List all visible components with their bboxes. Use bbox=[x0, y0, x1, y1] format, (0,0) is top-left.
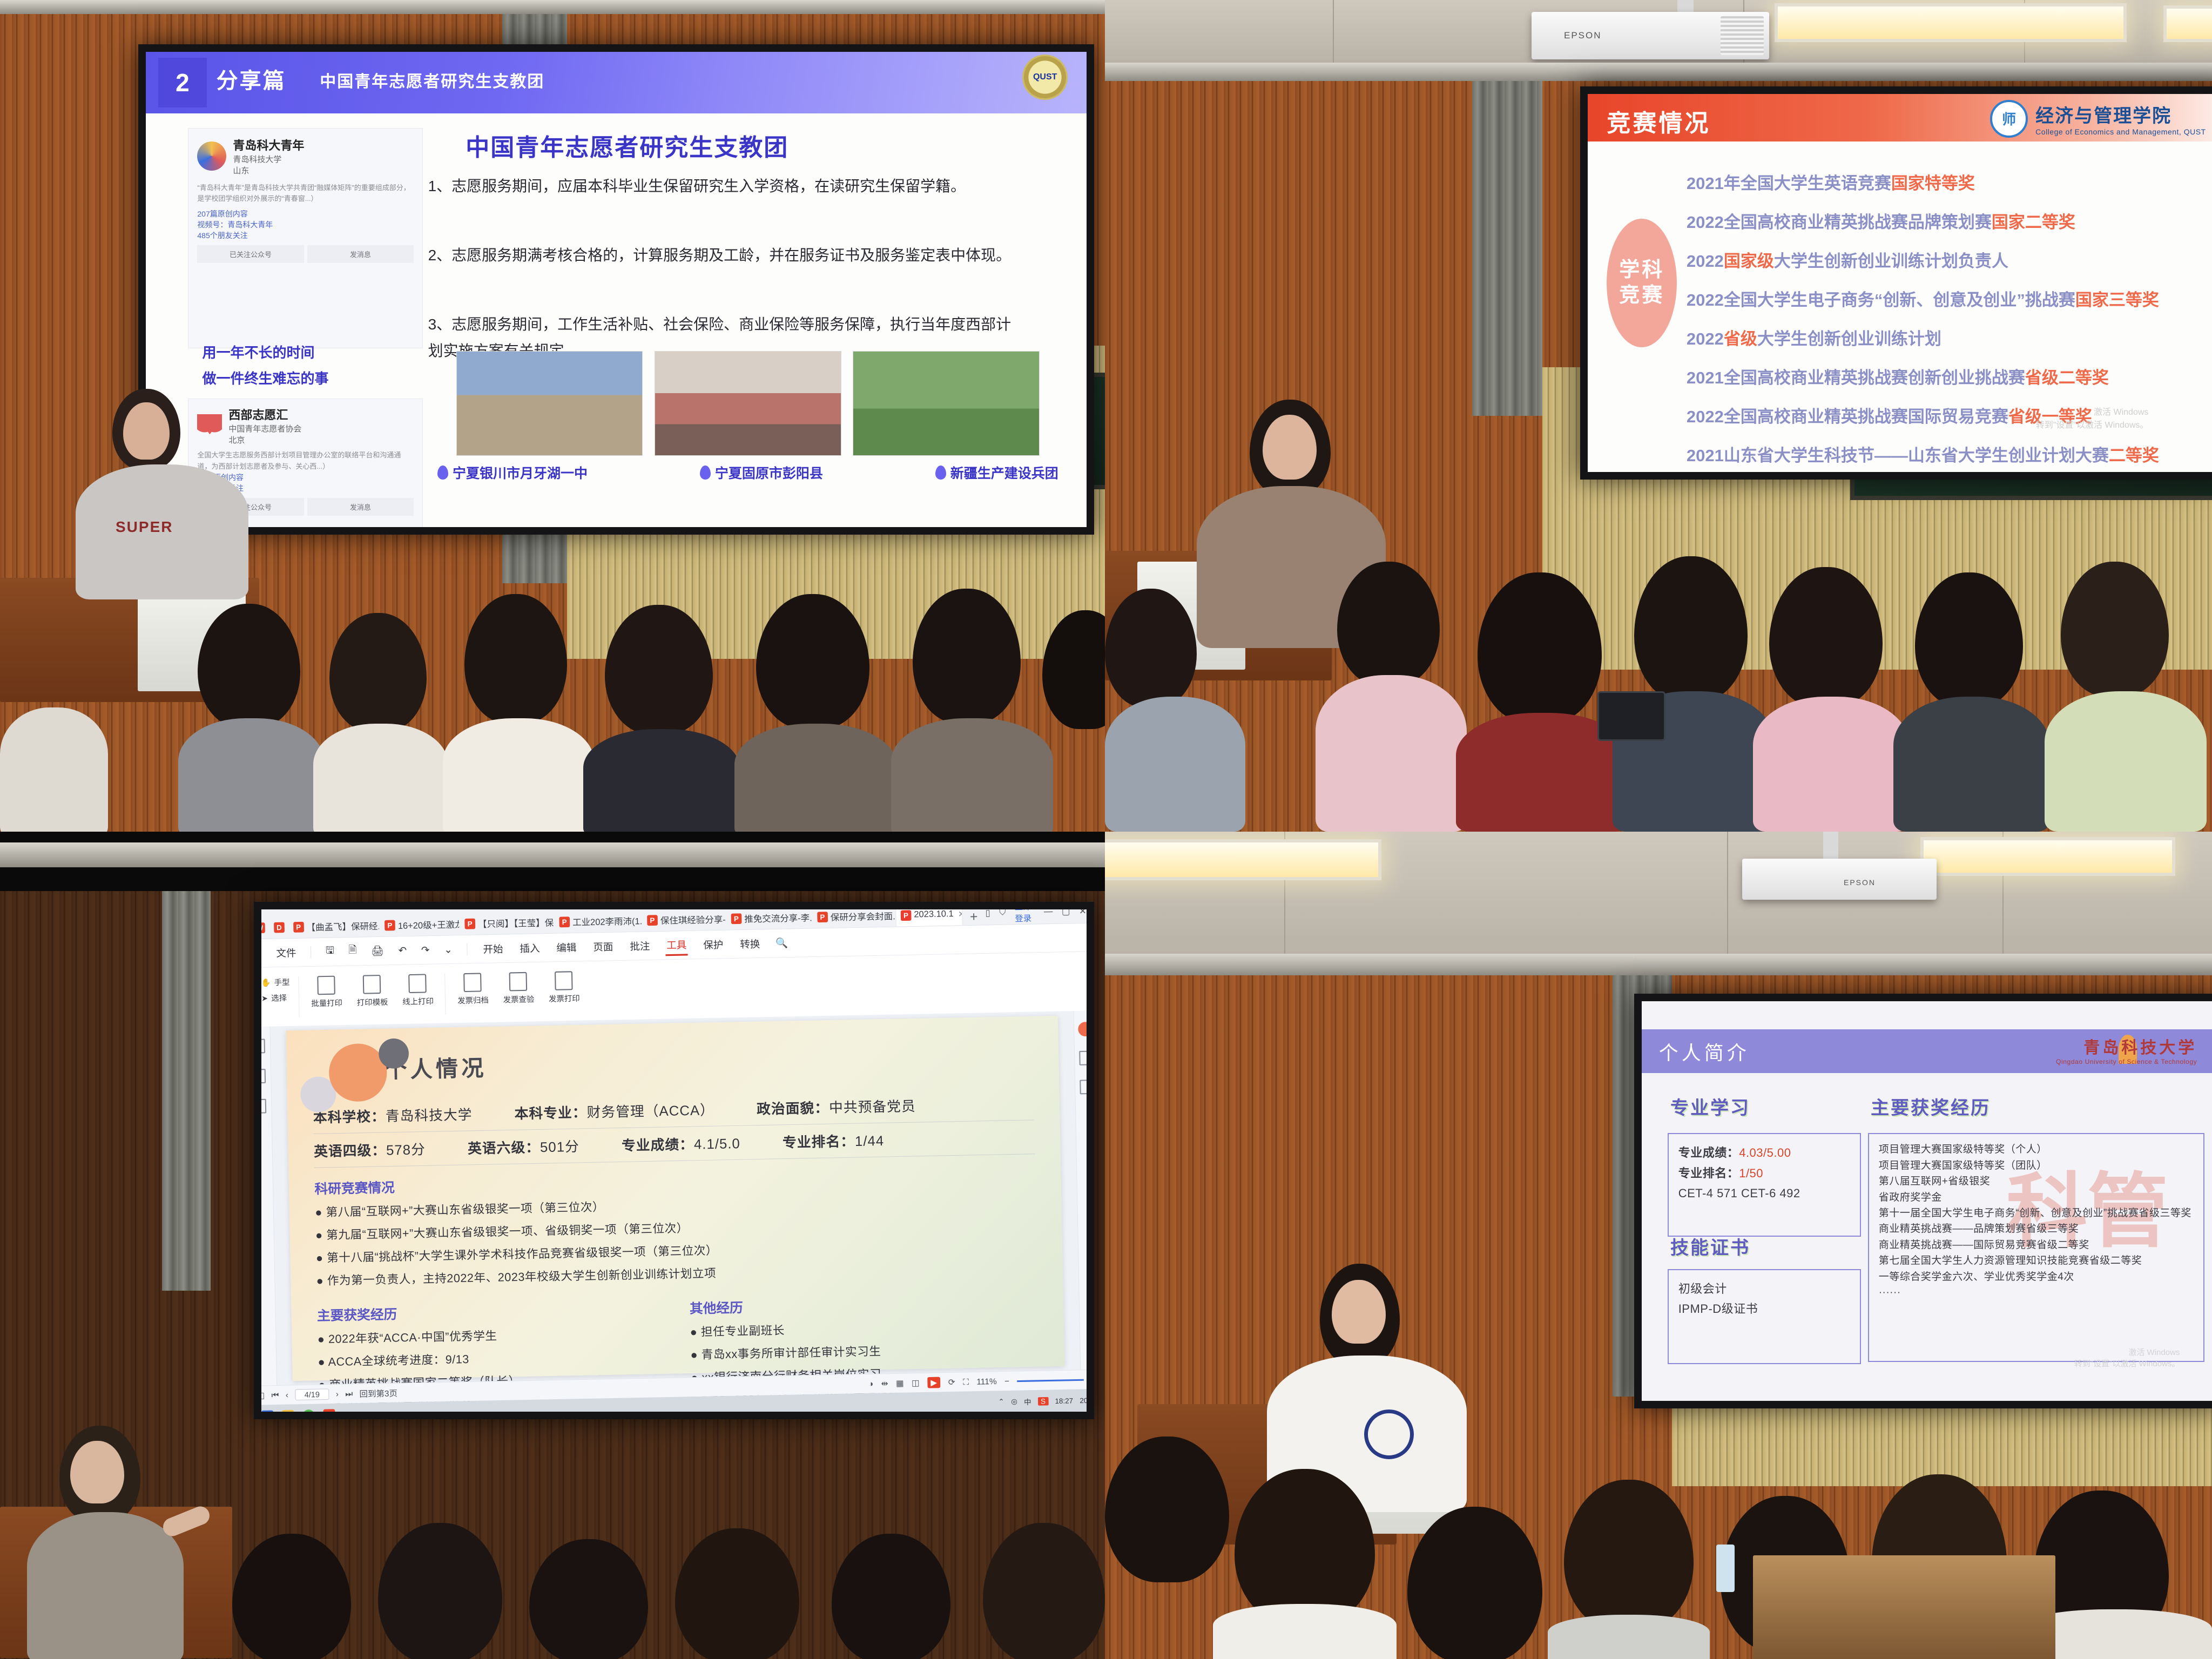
audience-head bbox=[605, 605, 713, 734]
presenter-1-shirt-text: SUPER bbox=[116, 518, 173, 536]
slide1-main-title: 中国青年志愿者研究生支教团 bbox=[466, 128, 788, 163]
presenter-4-face bbox=[1332, 1280, 1386, 1344]
tab-label: 推免交流分享-李... bbox=[744, 910, 812, 925]
audience-body bbox=[178, 718, 324, 832]
wechat-card-1: 青岛科大青年 青岛科技大学 山东 “青岛科大青年”是青岛科技大学共青团“融媒体矩… bbox=[188, 128, 423, 348]
wechat-card-1-message-button[interactable]: 发消息 bbox=[307, 245, 414, 263]
new-tab-button[interactable]: + bbox=[963, 909, 984, 925]
heart-hand-icon bbox=[197, 414, 222, 437]
award-line: 商业精英挑战赛——国际贸易竞赛省级二等奖 bbox=[1879, 1237, 2194, 1253]
university-name-en: Qingdao University of Science & Technolo… bbox=[2056, 1058, 2197, 1065]
view-mode-icon[interactable]: ◑ bbox=[868, 1379, 874, 1388]
wps-document-area: 个人情况 本科学校：青岛科技大学 本科专业：财务管理（ACCA） 政治面貌：中共… bbox=[261, 1010, 1087, 1386]
slide1-caption-1: 宁夏银川市月牙湖一中 bbox=[453, 463, 588, 482]
audience-head bbox=[1337, 562, 1440, 686]
ceiling-rail bbox=[0, 0, 1105, 14]
menu-protect[interactable]: 保护 bbox=[702, 935, 725, 954]
clock-time[interactable]: 18:27 bbox=[1055, 1397, 1073, 1405]
invoice-print-button[interactable]: 发票打印 bbox=[545, 971, 583, 1004]
doc-section-awards: 主要获奖经历 bbox=[317, 1298, 665, 1324]
search-icon[interactable]: 🔍 bbox=[775, 937, 788, 949]
projector-brand-label: EPSON bbox=[1564, 30, 1602, 41]
slide1-section-title: 分享篇 bbox=[217, 63, 286, 95]
audience-head bbox=[756, 594, 869, 729]
location-pin-icon bbox=[437, 466, 448, 480]
projector-vent bbox=[1721, 16, 1764, 55]
ceiling-rail bbox=[0, 842, 1105, 867]
minimize-icon[interactable]: — bbox=[1044, 909, 1053, 917]
award-item: 2021山东省大学生科技节——山东省大学生创业计划大赛二等奖 bbox=[1687, 442, 2212, 466]
university-name: 青岛科技大学 bbox=[2056, 1034, 2197, 1058]
hamburger-icon[interactable]: ☰ bbox=[261, 947, 262, 959]
wechat-card-2-message-button[interactable]: 发消息 bbox=[307, 498, 414, 516]
tab-label: 2023.10.1 bbox=[914, 909, 954, 920]
invoice-print-icon bbox=[555, 971, 573, 990]
phone-screen bbox=[1597, 691, 1665, 741]
audience-head bbox=[1634, 556, 1748, 702]
back-to-page-link[interactable]: 回到第3页 bbox=[359, 1387, 397, 1399]
first-page-button[interactable]: ⏮ bbox=[271, 1391, 279, 1400]
projector-brand-label: EPSON bbox=[1844, 878, 1876, 887]
zoom-slider[interactable] bbox=[1017, 1379, 1084, 1381]
doc-award-item: ● ACCA全球统考进度：9/13 bbox=[318, 1346, 666, 1370]
invoice-archive-icon bbox=[464, 973, 482, 992]
wechat-card-2-desc: 全国大学生志愿服务西部计划项目管理办公室的联络平台和沟通通道，为西部计划志愿者及… bbox=[197, 450, 414, 471]
wechat-card-2-count: 42篇原创内容 bbox=[197, 472, 414, 483]
zoom-icon[interactable] bbox=[1079, 1051, 1087, 1065]
tab-label: 保住琪经验分享-p bbox=[660, 912, 726, 927]
ceiling-light bbox=[1105, 839, 1381, 880]
network-icon[interactable]: ◎ bbox=[1011, 1397, 1017, 1406]
desk-row bbox=[1753, 1555, 2055, 1659]
award-item: 2022国家级大学生创新创业训练计划负责人 bbox=[1687, 247, 2212, 272]
slide1-caption-row: 宁夏银川市月牙湖一中 宁夏固原市彭阳县 新疆生产建设兵团 bbox=[437, 463, 1058, 482]
online-print-button[interactable]: 线上打印 bbox=[399, 974, 436, 1007]
wechat-card-1-count: 207篇原创内容 bbox=[197, 208, 414, 219]
close-icon[interactable]: ✕ bbox=[958, 909, 962, 919]
audience-head bbox=[1769, 567, 1883, 707]
word-icon: W bbox=[261, 922, 265, 933]
audience-body bbox=[1893, 697, 2050, 832]
slide1-title-band bbox=[146, 52, 1087, 113]
doc-title: 个人情况 bbox=[385, 1040, 1034, 1084]
redo-icon[interactable]: ↷ bbox=[421, 944, 430, 956]
ceiling-rail bbox=[1105, 63, 2212, 81]
college-name: 经济与管理学院 bbox=[2035, 101, 2206, 127]
badge-line-1: 学科 bbox=[1619, 258, 1664, 284]
login-button[interactable]: 立即登录 bbox=[1015, 909, 1035, 924]
windows-activation-watermark: 激活 Windows转到"设置"以激活 Windows。 bbox=[2036, 404, 2149, 430]
pdf-icon: P bbox=[900, 910, 911, 921]
tab-ppt-4[interactable]: P工业202李雨沛(1... bbox=[555, 909, 642, 933]
wechat-card-1-video: 视频号：青岛科大青年 bbox=[197, 219, 414, 230]
projector bbox=[1742, 859, 1937, 900]
award-item: 2021年全国大学生英语竞赛国家特等奖 bbox=[1687, 170, 2212, 194]
curtain bbox=[1472, 81, 1542, 416]
audience-head bbox=[2061, 562, 2169, 697]
wechat-card-1-friends: 485个朋友关注 bbox=[197, 230, 414, 241]
doc-award-item: ● 2022年获“ACCA·中国”优秀学生 bbox=[318, 1324, 666, 1347]
audience-head bbox=[1478, 572, 1602, 724]
college-name-en: College of Economics and Management, QUS… bbox=[2035, 127, 2206, 136]
ai-assistant-icon[interactable] bbox=[1078, 1022, 1087, 1036]
tab-label: 保研分享会封面.p bbox=[831, 909, 895, 923]
cert-box: 初级会计 IPMP-D级证书 bbox=[1668, 1269, 1861, 1365]
slide1-section-subtitle: 中国青年志愿者研究生支教团 bbox=[320, 68, 544, 92]
chevron-down-icon[interactable]: ⌄ bbox=[444, 943, 453, 955]
close-window-icon[interactable]: ✕ bbox=[1079, 909, 1087, 917]
slide1-section-number: 2 bbox=[158, 58, 207, 107]
doc-icon: D bbox=[274, 922, 285, 933]
university-crest-icon: QUST bbox=[1022, 55, 1068, 100]
save-icon[interactable]: 🖫 bbox=[326, 943, 334, 960]
dual-page-icon[interactable]: ◫ bbox=[912, 1378, 920, 1388]
save-as-icon[interactable]: 🗎 bbox=[348, 943, 357, 960]
award-line: 一等综合奖学金六次、学业优秀奖学金4次 bbox=[1879, 1269, 2194, 1285]
projection-screen-3: W D P【曲孟飞】保研经... P16+20级+王激龙 P【只阅】【王莹】保.… bbox=[254, 902, 1094, 1419]
audience-head bbox=[913, 589, 1021, 724]
batch-print-icon bbox=[318, 976, 336, 995]
slide2-category-badge: 学科 竞赛 bbox=[1607, 219, 1677, 347]
menu-page[interactable]: 页面 bbox=[592, 937, 615, 956]
badge-line-2: 竞赛 bbox=[1619, 283, 1664, 309]
projection-screen-2: 竞赛情况 师 经济与管理学院 College of Economics and … bbox=[1580, 86, 2212, 480]
college-emblem-icon: 师 bbox=[1990, 100, 2028, 138]
panel-bottom-left: W D P【曲孟飞】保研经... P16+20级+王激龙 P【只阅】【王莹】保.… bbox=[0, 832, 1105, 1659]
wechat-card-1-region: 山东 bbox=[233, 165, 304, 176]
award-line: 第七届全国大学生人力资源管理知识技能竞赛省级二等奖 bbox=[1879, 1253, 2194, 1269]
wechat-card-1-follow-button[interactable]: 已关注公众号 bbox=[197, 245, 304, 263]
tab-doc[interactable]: D bbox=[269, 916, 288, 939]
tab-label: 16+20级+王激龙 bbox=[398, 917, 460, 932]
zoom-level[interactable]: 111% bbox=[976, 1377, 997, 1386]
audience-head bbox=[329, 613, 427, 732]
slide2-title: 竞赛情况 bbox=[1607, 104, 1710, 138]
fullscreen-icon[interactable]: ⛶ bbox=[963, 1377, 969, 1387]
doc-other-item: ● 担任专业副班长 bbox=[690, 1317, 1038, 1340]
slide1-paragraph-2: 2、志愿服务期满考核合格的，计算服务期及工龄，并在服务证书及服务鉴定表中体现。 bbox=[428, 242, 1011, 268]
tab-ppt-5[interactable]: P保住琪经验分享-p bbox=[642, 909, 725, 932]
audience-head bbox=[464, 594, 567, 724]
audience-body bbox=[1548, 1615, 1710, 1659]
audience-body bbox=[313, 724, 448, 832]
clock-date[interactable]: 2023 bbox=[1080, 1396, 1087, 1405]
invoice-archive-button[interactable]: 发票归档 bbox=[454, 973, 491, 1006]
single-page-icon[interactable]: ▯ bbox=[261, 1391, 265, 1401]
tab-label: 工业202李雨沛(1... bbox=[572, 914, 642, 928]
audience-body bbox=[734, 724, 896, 832]
next-page-button[interactable]: › bbox=[336, 1389, 339, 1399]
panel-bottom-right: EPSON 个人简介 青岛科技大学 Qingdao University of … bbox=[1105, 832, 2212, 1659]
right-sidebar bbox=[1074, 1010, 1087, 1370]
tray-up-icon[interactable]: ⌃ bbox=[998, 1397, 1004, 1406]
invoice-verify-icon bbox=[509, 972, 528, 992]
curtain bbox=[162, 891, 211, 1291]
print-template-icon bbox=[363, 975, 381, 994]
projection-screen-4: 个人简介 青岛科技大学 Qingdao University of Scienc… bbox=[1634, 994, 2212, 1408]
browser-icon[interactable] bbox=[302, 1409, 314, 1412]
tab-ppt-1[interactable]: P【曲孟飞】保研经... bbox=[288, 914, 379, 938]
windows-activation-watermark: 激活 Windows转到"设置"以激活 Windows。 bbox=[2074, 1346, 2180, 1369]
grid-view-icon[interactable]: ▦ bbox=[896, 1378, 904, 1388]
ppt-icon: P bbox=[731, 913, 741, 924]
panel-top-left: 2 分享篇 中国青年志愿者研究生支教团 QUST 中国青年志愿者研究生支教团 1… bbox=[0, 0, 1105, 832]
fit-width-icon[interactable]: ⇹ bbox=[881, 1378, 888, 1388]
ppt-icon: P bbox=[817, 912, 828, 922]
award-item: 2022省级大学生创新创业训练计划 bbox=[1687, 325, 2212, 349]
split-view-icon[interactable]: ▯ bbox=[985, 909, 990, 919]
print-template-button[interactable]: 打印模板 bbox=[354, 975, 391, 1008]
tab-ppt-3[interactable]: P【只阅】【王莹】保... bbox=[460, 911, 554, 935]
award-line: 第十一届全国大学生电子商务“创新、创意及创业”挑战赛省级三等奖 bbox=[1879, 1205, 2194, 1221]
menu-convert[interactable]: 转换 bbox=[739, 934, 761, 954]
uniform-logo bbox=[1364, 1410, 1414, 1459]
wechat-card-2-org: 中国青年志愿者协会 bbox=[228, 423, 301, 434]
maximize-icon[interactable]: ▢ bbox=[1062, 909, 1070, 917]
left-sidebar bbox=[261, 1027, 277, 1386]
page-indicator[interactable]: 4/19 bbox=[295, 1388, 329, 1400]
handwriting-line-2: 做一件终生难忘的事 bbox=[203, 368, 329, 390]
audience-body bbox=[1213, 1604, 1397, 1659]
bookmark-icon[interactable] bbox=[261, 1039, 265, 1054]
projector-mount bbox=[1823, 832, 1838, 861]
tab-pdf-active[interactable]: P2023.10.1✕ bbox=[896, 909, 962, 927]
audience-body bbox=[2045, 691, 2207, 832]
tab-ppt-6[interactable]: P推免交流分享-李... bbox=[726, 909, 812, 930]
award-line: 商业精英挑战赛——品牌策划赛省级三等奖 bbox=[1879, 1221, 2194, 1237]
menu-tools[interactable]: 工具 bbox=[665, 935, 688, 956]
ceiling-light bbox=[1920, 837, 2175, 876]
select-tool[interactable]: ➤选择 bbox=[261, 992, 290, 1004]
rotate-icon[interactable]: ⟳ bbox=[948, 1377, 955, 1387]
hand-tool[interactable]: ✋手型 bbox=[261, 976, 290, 988]
hand-icon: ✋ bbox=[261, 977, 271, 987]
award-item: 2021全国高校商业精英挑战赛创新创业挑战赛省级二等奖 bbox=[1687, 364, 2212, 388]
audience-head bbox=[1564, 1480, 1694, 1631]
invoice-verify-button[interactable]: 发票查验 bbox=[500, 972, 537, 1006]
audience-body bbox=[443, 718, 594, 832]
slide1-paragraph-1: 1、志愿服务期间，应届本科毕业生保留研究生入学资格，在读研究生保留学籍。 bbox=[428, 173, 1011, 199]
award-line: ······ bbox=[1879, 1285, 2194, 1300]
award-item: 2022全国大学生电子商务“创新、创意及创业”挑战赛国家三等奖 bbox=[1687, 286, 2212, 311]
water-bottle bbox=[1716, 1545, 1735, 1592]
presenter-2-face bbox=[1263, 415, 1317, 480]
wechat-card-2-region: 北京 bbox=[228, 434, 301, 446]
college-logo: 师 经济与管理学院 College of Economics and Manag… bbox=[1990, 100, 2206, 138]
present-icon[interactable]: ▶ bbox=[927, 1377, 941, 1388]
ppt-icon: P bbox=[559, 916, 570, 927]
audience-body bbox=[1316, 675, 1467, 832]
ceiling-light bbox=[1775, 3, 2127, 42]
photo-collage-2x2: 2 分享篇 中国青年志愿者研究生支教团 QUST 中国青年志愿者研究生支教团 1… bbox=[0, 0, 2212, 1659]
audience-head bbox=[1235, 1469, 1375, 1626]
slide4-heading-awards: 主要获奖经历 bbox=[1871, 1093, 1991, 1120]
presenter-3-face bbox=[70, 1441, 124, 1503]
panel-top-right: EPSON 竞赛情况 师 经济与管理学院 College of Economic… bbox=[1105, 0, 2212, 832]
ppt-icon: P bbox=[385, 920, 395, 930]
audience-head bbox=[1915, 572, 2023, 707]
ceiling-rail bbox=[1105, 954, 2212, 975]
online-print-icon bbox=[409, 974, 427, 993]
award-line: 省政府奖学金 bbox=[1879, 1190, 2194, 1205]
audience-body bbox=[1105, 697, 1245, 832]
thumbnail-icon[interactable] bbox=[261, 1069, 266, 1083]
wps-taskbar-icon[interactable] bbox=[323, 1409, 335, 1412]
study-box: 专业成绩：4.03/5.00 专业排名：1/50 CET-4 571 CET-6… bbox=[1668, 1133, 1861, 1236]
undo-icon[interactable]: ↶ bbox=[398, 945, 407, 956]
sogou-icon[interactable]: S bbox=[1038, 1397, 1049, 1405]
award-line: 项目管理大赛国家级特等奖（个人） bbox=[1879, 1142, 2194, 1157]
slide4-heading-study: 专业学习 bbox=[1670, 1093, 1750, 1120]
file-menu[interactable]: 文件 bbox=[276, 945, 296, 960]
cursor-icon: ➤ bbox=[261, 993, 268, 1003]
pdf-page: 个人情况 本科学校：青岛科技大学 本科专业：财务管理（ACCA） 政治面貌：中共… bbox=[286, 1016, 1064, 1381]
ppt-icon: P bbox=[293, 921, 304, 932]
print-icon[interactable]: 🖨 bbox=[371, 945, 384, 957]
slide1-photo-3 bbox=[853, 351, 1040, 456]
audience-head bbox=[1105, 589, 1197, 707]
tab-ppt-7[interactable]: P保研分享会封面.p bbox=[812, 909, 895, 928]
tab-label: 【曲孟飞】保研经... bbox=[306, 919, 379, 934]
audience-body bbox=[891, 718, 1053, 832]
audience-head bbox=[1105, 1437, 1229, 1582]
tab-word[interactable]: W bbox=[261, 916, 268, 939]
presenter-1-face bbox=[123, 402, 170, 460]
ceiling-light bbox=[2163, 5, 2212, 42]
slide1-photo-strip bbox=[456, 351, 1040, 456]
wps-office-window: W D P【曲孟飞】保研经... P16+20级+王激龙 P【只阅】【王莹】保.… bbox=[261, 909, 1087, 1412]
presenter-3-body bbox=[27, 1512, 184, 1659]
ppt-icon: P bbox=[464, 918, 475, 929]
audience-body bbox=[583, 729, 740, 832]
doc-section-other: 其他经历 bbox=[690, 1291, 1038, 1317]
handwriting-line-1: 用一年不长的时间 bbox=[203, 342, 315, 365]
last-page-button[interactable]: ⏭ bbox=[345, 1389, 353, 1399]
audience-body bbox=[0, 707, 108, 832]
award-line: 第八届互联网+省级银奖 bbox=[1879, 1174, 2194, 1189]
tab-label: 【只阅】【王莹】保... bbox=[478, 915, 554, 930]
audience-head bbox=[198, 604, 300, 728]
location-pin-icon bbox=[935, 466, 946, 480]
slide4-title: 个人简介 bbox=[1659, 1037, 1750, 1065]
explorer-icon[interactable] bbox=[282, 1410, 294, 1412]
start-icon[interactable] bbox=[261, 1410, 273, 1412]
menu-edit[interactable]: 编辑 bbox=[555, 938, 578, 957]
wechat-avatar-1-icon bbox=[197, 141, 226, 171]
menu-insert[interactable]: 插入 bbox=[518, 939, 541, 958]
audience-body bbox=[1753, 697, 1910, 832]
award-line: 项目管理大赛国家级特等奖（团队） bbox=[1879, 1158, 2194, 1174]
projection-screen-1: 2 分享篇 中国青年志愿者研究生支教团 QUST 中国青年志愿者研究生支教团 1… bbox=[138, 44, 1094, 535]
slide1-photo-2 bbox=[655, 351, 841, 456]
slide4-heading-cert: 技能证书 bbox=[1670, 1233, 1750, 1259]
award-item: 2022全国高校商业精英挑战赛品牌策划赛国家二等奖 bbox=[1687, 208, 2212, 233]
zoom-out-icon[interactable]: − bbox=[1004, 1377, 1009, 1386]
ppt-icon: P bbox=[647, 915, 658, 926]
comment-icon[interactable] bbox=[261, 1099, 266, 1114]
wechat-card-2-name: 西部志愿汇 bbox=[228, 406, 301, 423]
location-pin-icon bbox=[700, 466, 711, 480]
ime-icon[interactable]: 中 bbox=[1024, 1396, 1031, 1407]
wechat-card-1-org: 青岛科技大学 bbox=[233, 153, 304, 165]
fit-icon[interactable] bbox=[1080, 1080, 1087, 1094]
doc-other-item: ● 青岛xx事务所审计部任审计实习生 bbox=[690, 1339, 1038, 1363]
shield-icon[interactable]: ⛉ bbox=[999, 909, 1006, 918]
slide1-caption-3: 新疆生产建设兵团 bbox=[950, 463, 1058, 482]
menu-comment[interactable]: 批注 bbox=[629, 936, 651, 956]
prev-page-button[interactable]: ‹ bbox=[286, 1390, 288, 1400]
awards-box: 项目管理大赛国家级特等奖（个人） 项目管理大赛国家级特等奖（团队） 第八届互联网… bbox=[1868, 1133, 2204, 1362]
batch-print-button[interactable]: 批量打印 bbox=[308, 975, 345, 1009]
slide1-photo-1 bbox=[456, 351, 643, 456]
wechat-card-1-name: 青岛科大青年 bbox=[233, 136, 304, 153]
wechat-card-1-desc: “青岛科大青年”是青岛科技大学共青团“融媒体矩阵”的重要组成部分，是学校团学组织… bbox=[197, 183, 414, 204]
university-logo: 青岛科技大学 Qingdao University of Science & T… bbox=[2056, 1034, 2197, 1065]
menu-start[interactable]: 开始 bbox=[482, 939, 504, 959]
tab-ppt-2[interactable]: P16+20级+王激龙 bbox=[380, 913, 459, 936]
slide1-caption-2: 宁夏固原市彭阳县 bbox=[715, 463, 823, 482]
